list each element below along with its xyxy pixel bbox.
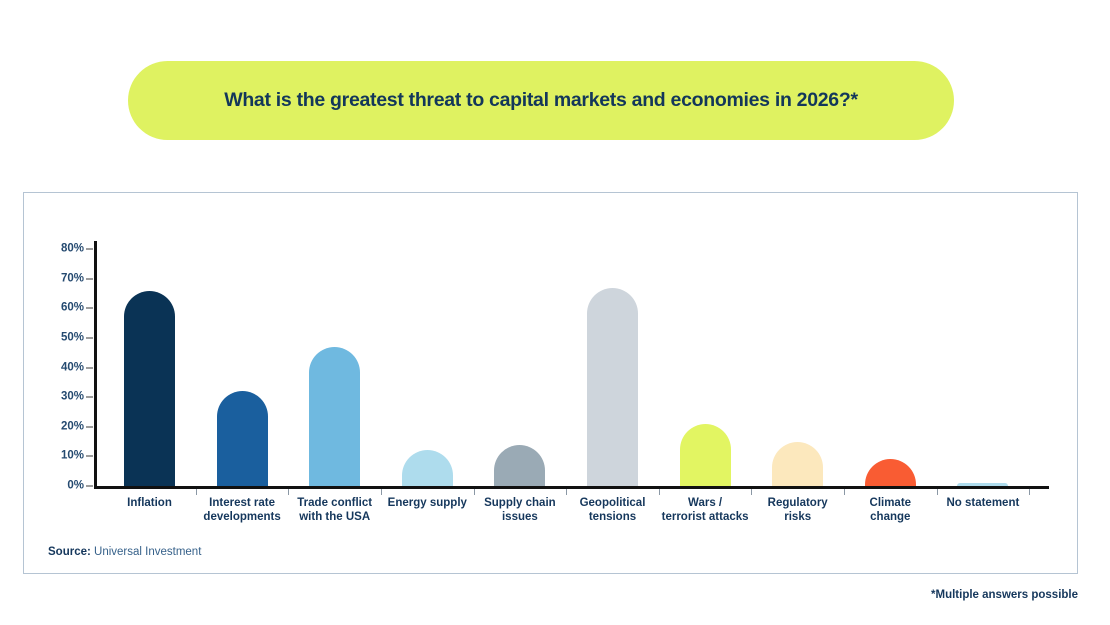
y-axis-tick-mark bbox=[86, 397, 93, 398]
x-axis-tick-mark bbox=[288, 489, 289, 495]
plot-area: 0%10%20%30%40%50%60%70%80% InflationInte… bbox=[24, 193, 1079, 575]
y-axis-tick-mark bbox=[86, 367, 93, 368]
x-axis-tick-mark bbox=[474, 489, 475, 495]
bar-trade-conflict-with-the-usa bbox=[309, 347, 360, 486]
x-axis-tick-label: No statement bbox=[923, 496, 1043, 510]
source-note: Source: Universal Investment bbox=[48, 546, 201, 558]
source-value: Universal Investment bbox=[91, 546, 202, 558]
x-axis-tick-mark bbox=[751, 489, 752, 495]
bar-energy-supply bbox=[402, 450, 453, 486]
bar-interest-rate-developments bbox=[217, 391, 268, 486]
x-axis-tick-mark bbox=[381, 489, 382, 495]
y-axis-tick-mark bbox=[86, 308, 93, 309]
x-axis-tick-mark bbox=[566, 489, 567, 495]
bar-no-statement bbox=[957, 483, 1008, 486]
y-axis-tick-mark bbox=[86, 426, 93, 427]
y-axis-tick-mark bbox=[86, 456, 93, 457]
bar-supply-chain-issues bbox=[494, 445, 545, 486]
x-axis-tick-label-line: No statement bbox=[923, 496, 1043, 510]
x-axis-tick-mark bbox=[196, 489, 197, 495]
x-axis-tick-label-line: change bbox=[830, 510, 950, 524]
y-axis-tick-mark bbox=[86, 249, 93, 250]
chart-card: 0%10%20%30%40%50%60%70%80% InflationInte… bbox=[23, 192, 1078, 574]
bar-wars-terrorist-attacks bbox=[680, 424, 731, 486]
bar-inflation bbox=[124, 291, 175, 486]
page-title: What is the greatest threat to capital m… bbox=[224, 89, 858, 112]
y-axis-tick-mark bbox=[86, 338, 93, 339]
y-axis-tick-mark bbox=[86, 278, 93, 279]
y-axis-tick-mark bbox=[86, 486, 93, 487]
x-axis-tick-mark bbox=[937, 489, 938, 495]
bar-regulatory-risks bbox=[772, 442, 823, 486]
bar-climate-change bbox=[865, 459, 916, 486]
x-axis-tick-mark bbox=[659, 489, 660, 495]
x-axis-labels: InflationInterest ratedevelopmentsTrade … bbox=[24, 496, 1079, 542]
x-axis-tick-label-line: with the USA bbox=[275, 510, 395, 524]
x-axis-tick-mark bbox=[1029, 489, 1030, 495]
chart-title-banner: What is the greatest threat to capital m… bbox=[128, 61, 954, 140]
source-label: Source: bbox=[48, 546, 91, 558]
bar-geopolitical-tensions bbox=[587, 288, 638, 486]
x-axis-tick-mark bbox=[844, 489, 845, 495]
footnote: *Multiple answers possible bbox=[931, 589, 1078, 601]
